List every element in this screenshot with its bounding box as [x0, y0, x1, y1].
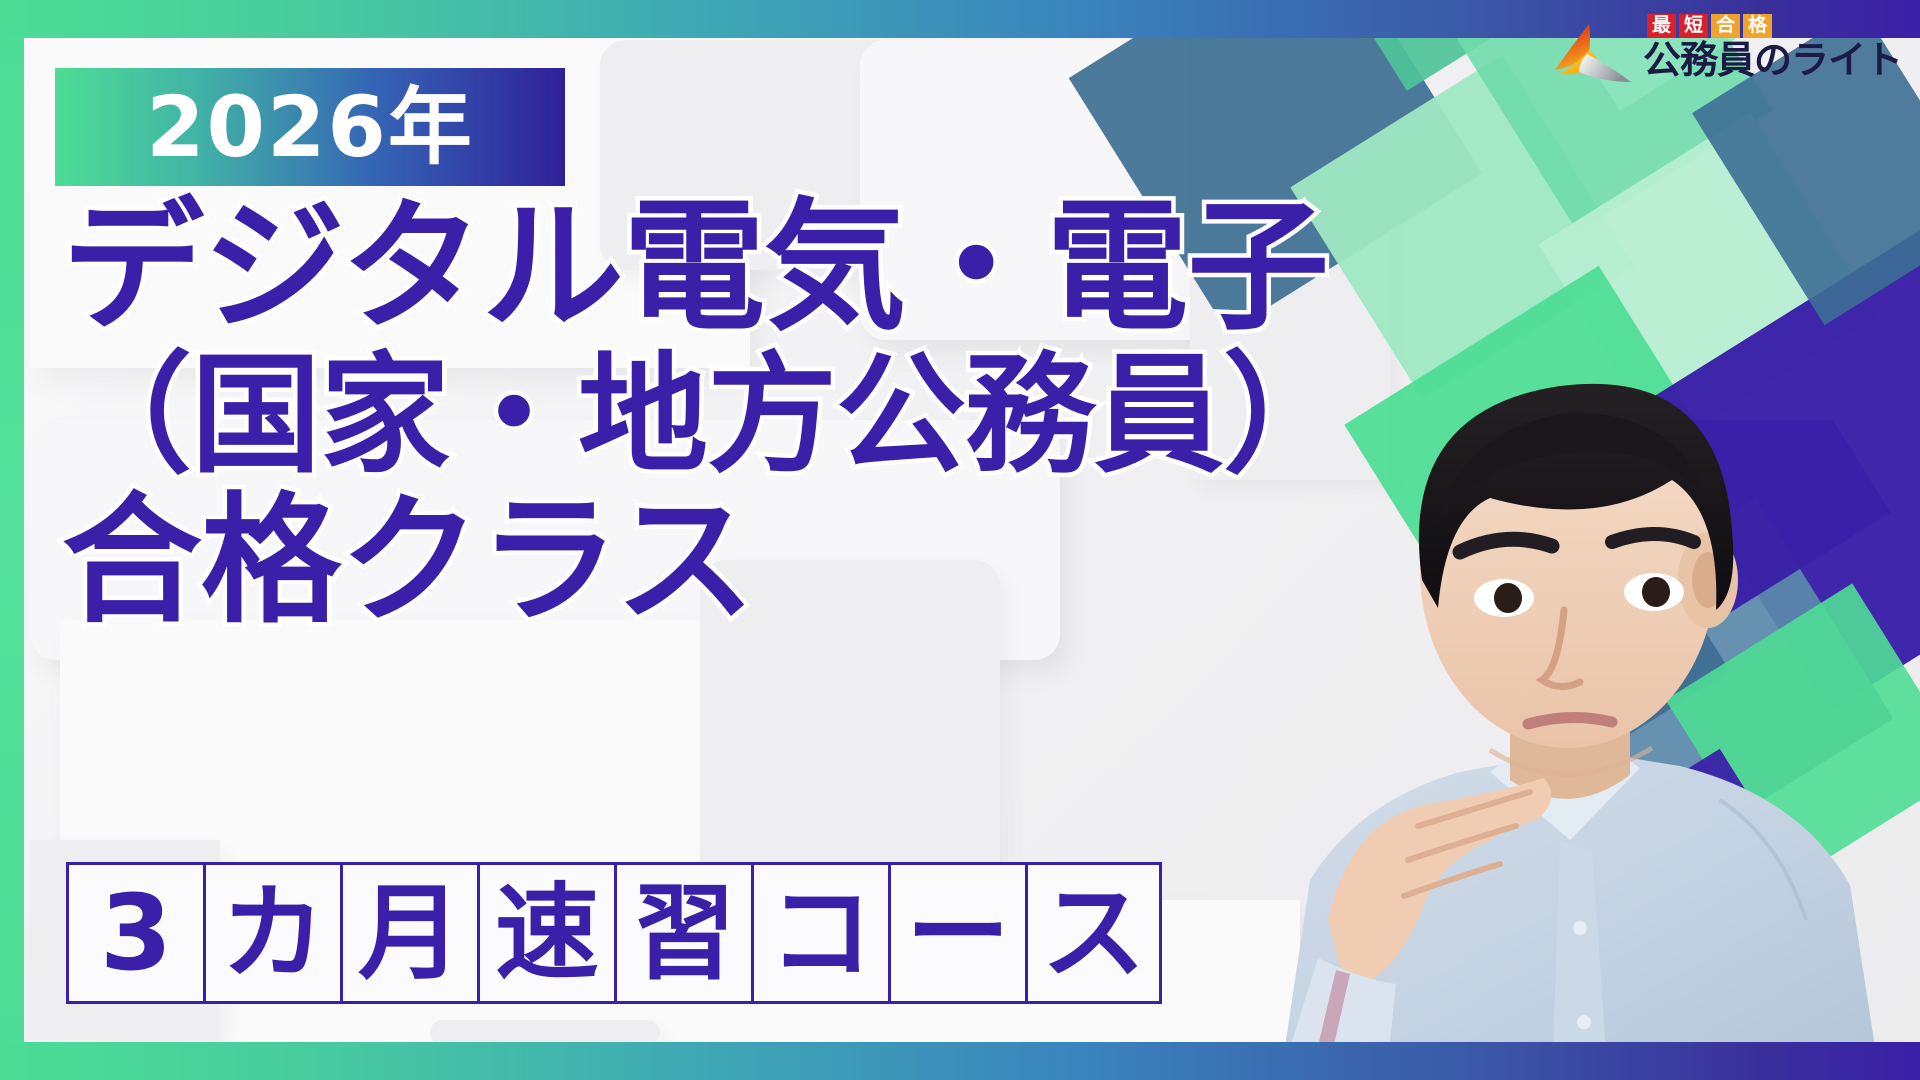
flame-swoosh-logo-mark: [1545, 20, 1637, 94]
course-cell: ー: [888, 862, 1025, 1004]
brand-logo: 最 短 合 格 公務員のライト: [1545, 14, 1902, 94]
course-cell-char: 月: [358, 881, 462, 985]
course-cell-char: 3: [100, 881, 172, 985]
course-cell-char: コ: [769, 881, 873, 985]
course-cell: 月: [340, 862, 477, 1004]
course-cell: カ: [203, 862, 340, 1004]
logo-badge-char: 格: [1743, 14, 1772, 38]
course-banner: 2026年 デジタル電気・電子 （国家・地方公務員） 合格クラス 3 カ 月 速…: [0, 0, 1920, 1080]
course-cell-char: ー: [906, 881, 1010, 985]
course-cell-char: 速: [495, 881, 599, 985]
logo-badges: 最 短 合 格: [1647, 14, 1772, 38]
course-cell: 速: [477, 862, 614, 1004]
course-cell: 習: [614, 862, 751, 1004]
logo-badge-char: 最: [1647, 14, 1676, 38]
course-cell-char: 習: [632, 881, 736, 985]
course-cell-char: ス: [1041, 881, 1145, 985]
course-cell: ス: [1025, 862, 1162, 1004]
logo-text-wrap: 最 短 合 格 公務員のライト: [1643, 14, 1902, 79]
bottom-gradient-rail: [0, 1042, 1920, 1080]
left-green-rail: [0, 0, 24, 1080]
headline-block: デジタル電気・電子 （国家・地方公務員） 合格クラス: [62, 196, 1392, 638]
headline-line-1: デジタル電気・電子: [62, 196, 1392, 341]
course-cell: 3: [66, 862, 203, 1004]
logo-brand-name: 公務員のライト: [1643, 41, 1902, 79]
course-cell: コ: [751, 862, 888, 1004]
course-strip: 3 カ 月 速 習 コ ー ス: [66, 862, 1162, 1004]
logo-badge-char: 合: [1711, 14, 1740, 38]
logo-badge-char: 短: [1679, 14, 1708, 38]
headline-line-3: 合格クラス: [62, 491, 1392, 634]
year-badge-label: 2026年: [146, 85, 474, 169]
year-badge: 2026年: [55, 68, 565, 186]
course-cell-char: カ: [221, 881, 325, 985]
headline-line-2: （国家・地方公務員）: [62, 349, 1392, 482]
bg-panel-6: [60, 620, 700, 870]
